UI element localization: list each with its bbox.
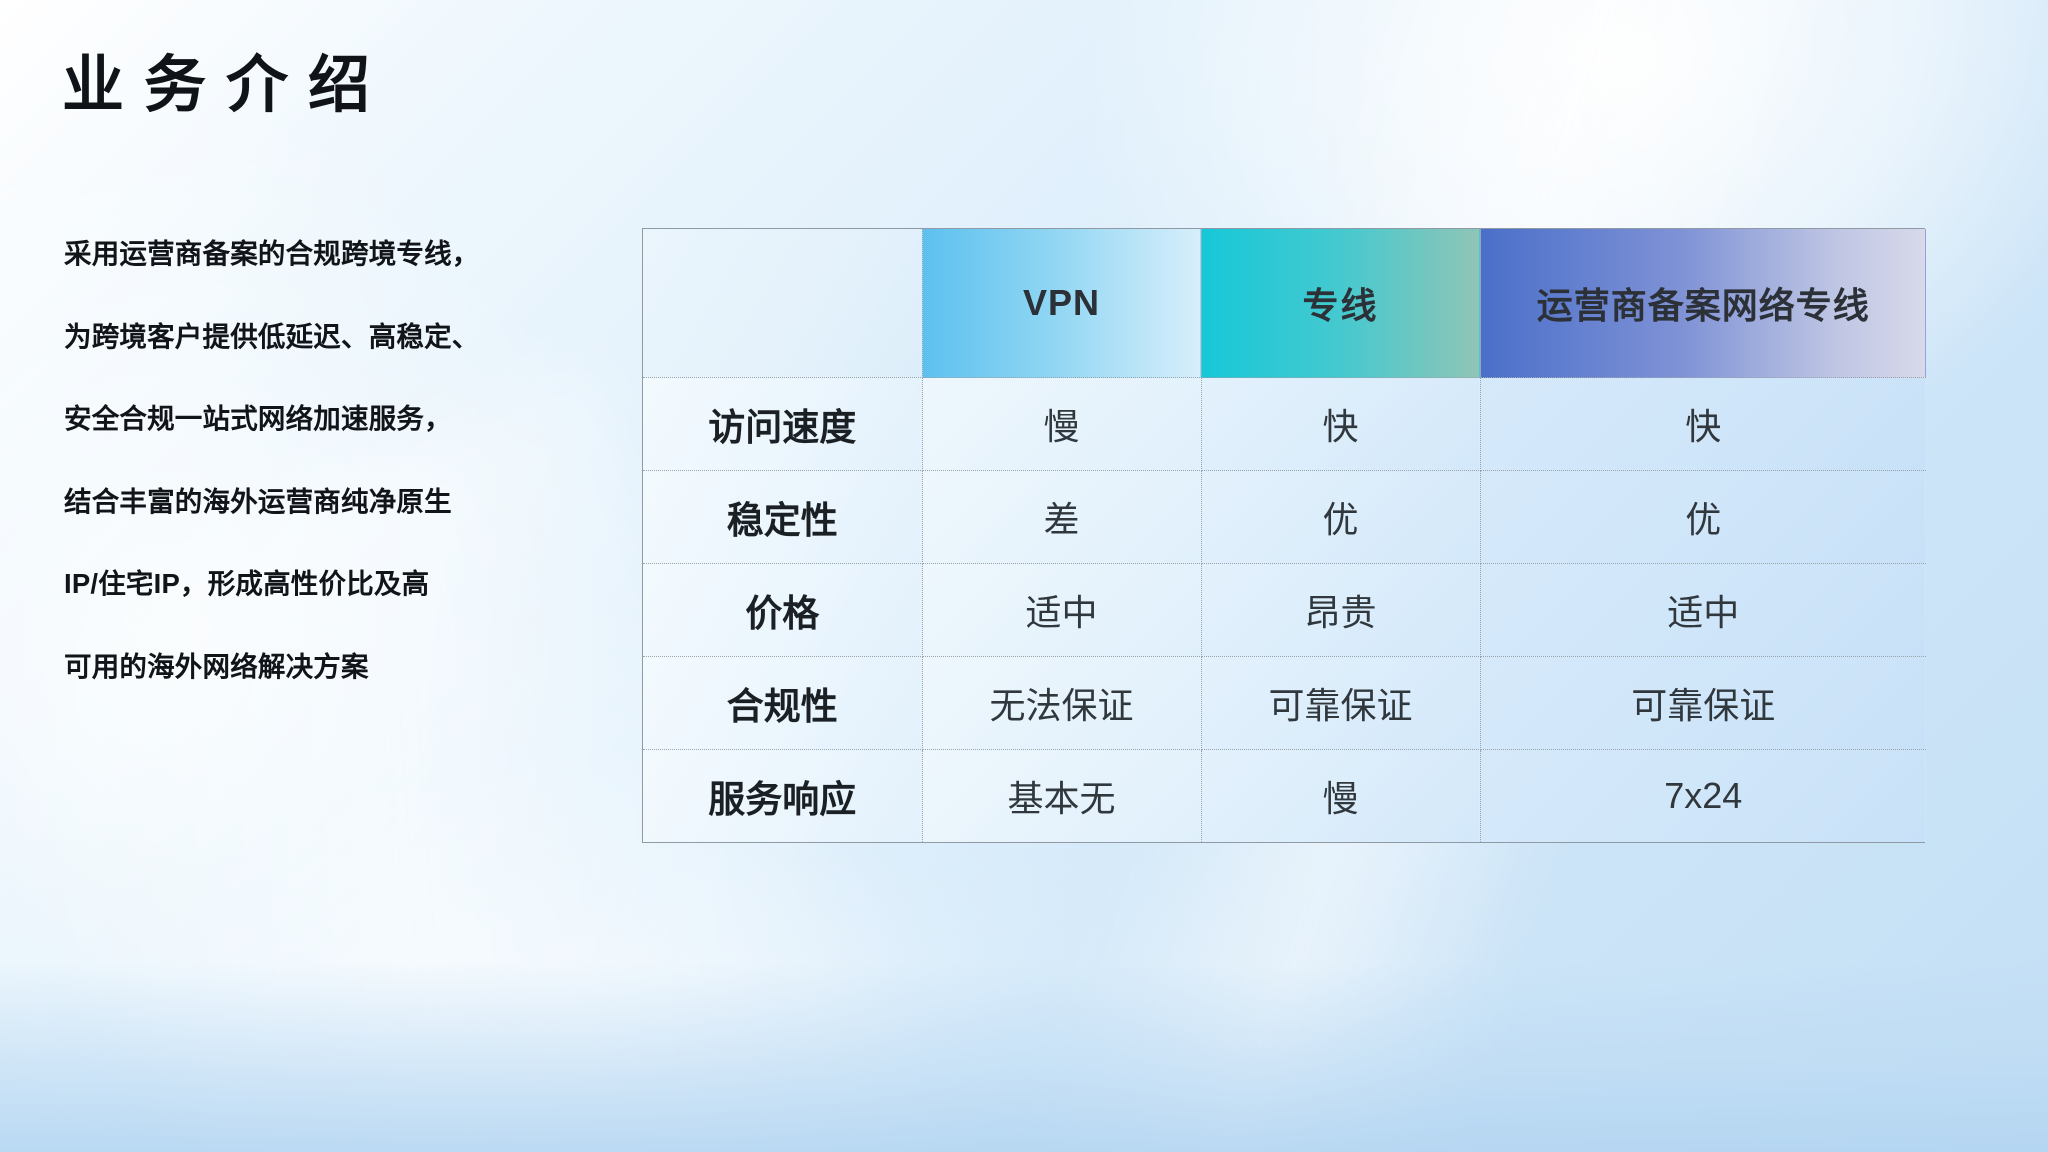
cell-value: 适中 <box>922 564 1201 657</box>
page-title: 业务介绍 <box>62 52 390 120</box>
intro-paragraph: 采用运营商备案的合规跨境专线， 为跨境客户提供低延迟、高稳定、 安全合规一站式网… <box>64 240 604 680</box>
cell-value: 优 <box>1480 471 1926 564</box>
intro-paragraph-line: IP/住宅IP，形成高性价比及高 <box>64 570 604 598</box>
table-header-filed-network-line: 运营商备案网络专线 <box>1480 229 1926 378</box>
cell-value: 可靠保证 <box>1480 657 1926 750</box>
cell-value: 慢 <box>922 378 1201 471</box>
row-label: 访问速度 <box>643 378 922 471</box>
background-bottom-band <box>0 962 2048 1152</box>
slide-canvas: 业务介绍 采用运营商备案的合规跨境专线， 为跨境客户提供低延迟、高稳定、 安全合… <box>0 0 2048 1152</box>
cell-value: 无法保证 <box>922 657 1201 750</box>
table-header-blank <box>643 229 922 378</box>
row-label: 合规性 <box>643 657 922 750</box>
table-row: 稳定性 差 优 优 <box>643 471 1926 564</box>
table-row: 服务响应 基本无 慢 7x24 <box>643 750 1926 843</box>
cell-value: 7x24 <box>1480 750 1926 843</box>
row-label: 服务响应 <box>643 750 922 843</box>
table-row: 访问速度 慢 快 快 <box>643 378 1926 471</box>
cell-value: 快 <box>1201 378 1480 471</box>
cell-value: 昂贵 <box>1201 564 1480 657</box>
row-label: 稳定性 <box>643 471 922 564</box>
cell-value: 慢 <box>1201 750 1480 843</box>
cell-value: 基本无 <box>922 750 1201 843</box>
comparison-table: VPN 专线 运营商备案网络专线 访问速度 慢 快 快 稳定性 差 优 优 <box>642 228 1925 843</box>
intro-paragraph-line: 采用运营商备案的合规跨境专线， <box>64 240 604 268</box>
cell-value: 优 <box>1201 471 1480 564</box>
cell-value: 差 <box>922 471 1201 564</box>
cell-value: 适中 <box>1480 564 1926 657</box>
table-header-row: VPN 专线 运营商备案网络专线 <box>643 229 1926 378</box>
table-row: 合规性 无法保证 可靠保证 可靠保证 <box>643 657 1926 750</box>
row-label: 价格 <box>643 564 922 657</box>
intro-paragraph-line: 安全合规一站式网络加速服务， <box>64 405 604 433</box>
intro-paragraph-line: 结合丰富的海外运营商纯净原生 <box>64 488 604 516</box>
cell-value: 快 <box>1480 378 1926 471</box>
table-row: 价格 适中 昂贵 适中 <box>643 564 1926 657</box>
table-header-vpn: VPN <box>922 229 1201 378</box>
intro-paragraph-line: 为跨境客户提供低延迟、高稳定、 <box>64 323 604 351</box>
intro-paragraph-line: 可用的海外网络解决方案 <box>64 653 604 681</box>
cell-value: 可靠保证 <box>1201 657 1480 750</box>
table-header-dedicated-line: 专线 <box>1201 229 1480 378</box>
